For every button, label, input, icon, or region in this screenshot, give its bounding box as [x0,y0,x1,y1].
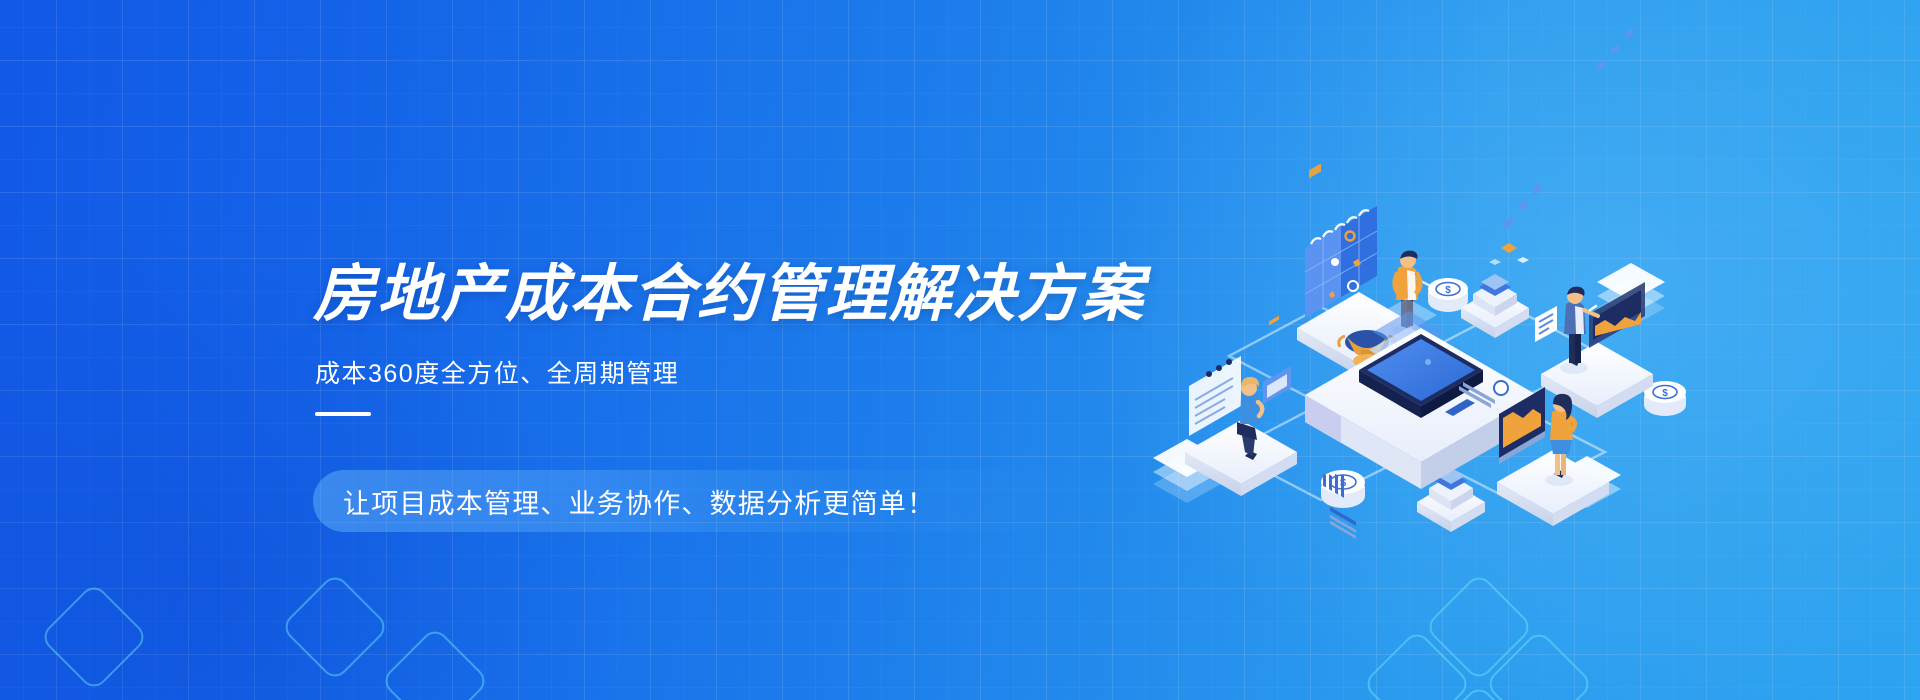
svg-text:$: $ [1662,388,1668,399]
calendar-icon [1305,163,1377,318]
diamond-center-a [280,572,390,682]
person-seated-node [1185,316,1297,496]
document-card-node [1535,306,1557,342]
diamond-bottom-left [39,582,149,692]
diamond-right-left [1362,629,1472,700]
isometric-cost-management-illustration: $ $ $ [1145,190,1705,570]
title-divider [315,412,371,416]
diamond-right-right [1484,629,1594,700]
hero-banner: 房地产成本合约管理解决方案 成本360度全方位、全周期管理 让项目成本管理、业务… [0,0,1920,700]
diamond-center-b [380,626,490,700]
diamond-right-bottom [1424,684,1534,700]
dashboard-screen-right [1589,28,1645,348]
person-presenting-node [1535,28,1653,418]
diamond-right-top [1424,572,1534,682]
coin-stack-top: $ [1428,278,1468,312]
svg-text:$: $ [1445,285,1451,296]
tagline-text: 让项目成本管理、业务协作、数据分析更简单！ [343,470,935,532]
cube-pedestal-top [1461,243,1529,338]
